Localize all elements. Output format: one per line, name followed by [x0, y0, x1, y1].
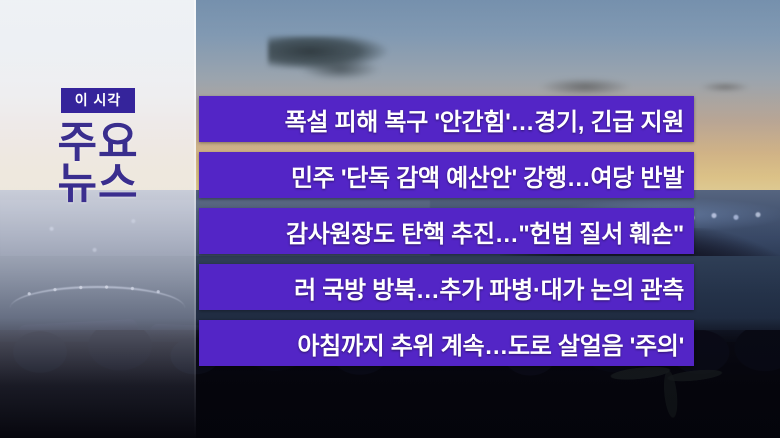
left-haze-panel	[0, 0, 196, 438]
page-title-line-1: 주요	[0, 123, 196, 164]
headline-bar-4[interactable]: 러 국방 방북…추가 파병·대가 논의 관측	[199, 264, 694, 310]
headline-bar-1[interactable]: 폭설 피해 복구 '안간힘'…경기, 긴급 지원	[199, 96, 694, 142]
headline-bar-3[interactable]: 감사원장도 탄핵 추진…"헌법 질서 훼손"	[199, 208, 694, 254]
headline-text: 감사원장도 탄핵 추진…"헌법 질서 훼손"	[286, 214, 684, 249]
brand-block: 이 시각 주요 뉴스	[0, 88, 196, 206]
headline-text: 러 국방 방북…추가 파병·대가 논의 관측	[294, 270, 684, 305]
headline-bar-5[interactable]: 아침까지 추위 계속…도로 살얼음 '주의'	[199, 320, 694, 366]
left-panel-edge	[194, 0, 196, 438]
news-broadcast-graphic: 이 시각 주요 뉴스 폭설 피해 복구 '안간힘'…경기, 긴급 지원 민주 '…	[0, 0, 780, 438]
page-title: 주요 뉴스	[0, 123, 196, 206]
headline-text: 폭설 피해 복구 '안간힘'…경기, 긴급 지원	[285, 102, 684, 137]
headline-text: 아침까지 추위 계속…도로 살얼음 '주의'	[297, 326, 684, 361]
headline-bar-2[interactable]: 민주 '단독 감액 예산안' 강행…여당 반발	[199, 152, 694, 198]
headline-text: 민주 '단독 감액 예산안' 강행…여당 반발	[291, 158, 684, 193]
headline-list: 폭설 피해 복구 '안간힘'…경기, 긴급 지원 민주 '단독 감액 예산안' …	[199, 96, 694, 366]
page-title-line-2: 뉴스	[0, 164, 196, 205]
time-badge: 이 시각	[61, 88, 136, 113]
